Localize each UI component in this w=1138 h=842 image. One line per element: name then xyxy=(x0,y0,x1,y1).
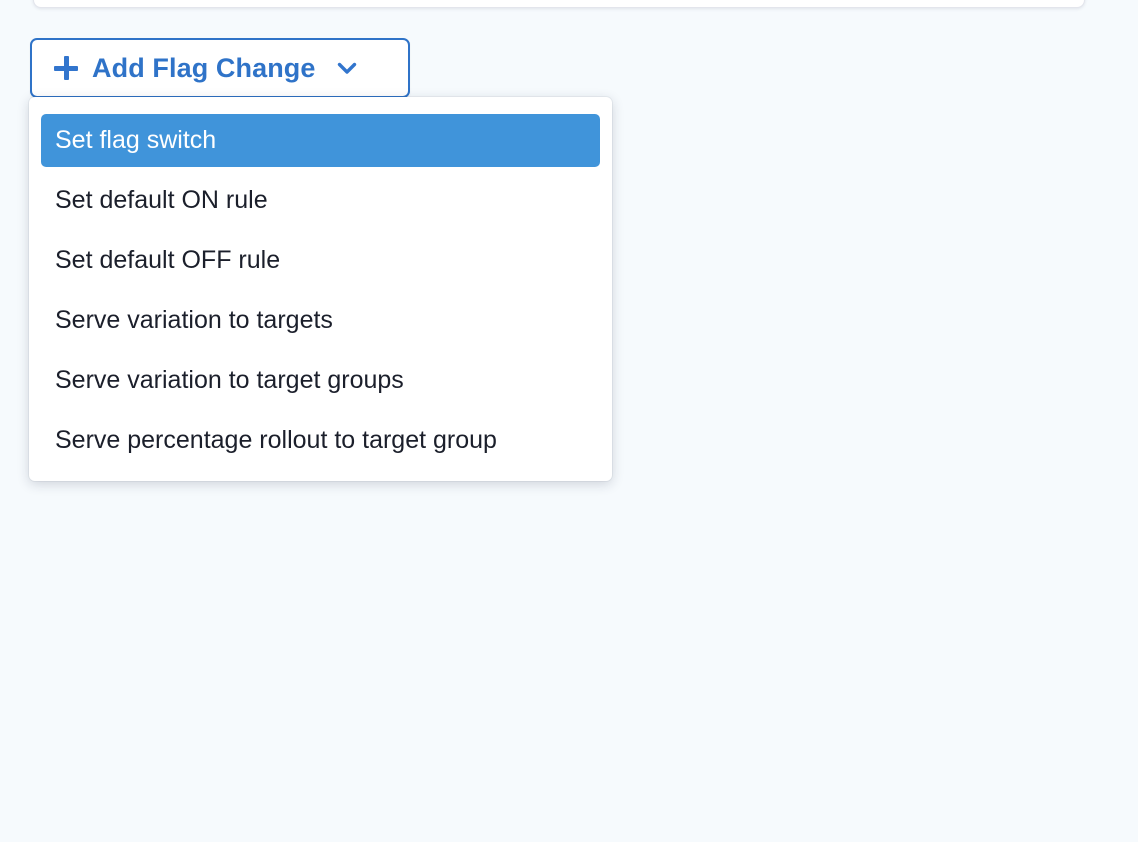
menu-item-label: Set flag switch xyxy=(55,128,216,153)
menu-item-label: Set default ON rule xyxy=(55,188,268,213)
add-flag-change-label: Add Flag Change xyxy=(92,55,316,82)
flag-change-menu: Set flag switch Set default ON rule Set … xyxy=(29,97,612,481)
menu-item-label: Serve variation to targets xyxy=(55,308,333,333)
add-flag-change-dropdown: Add Flag Change Set flag switch Set defa… xyxy=(0,0,1138,842)
chevron-down-icon xyxy=(334,55,360,81)
menu-item-label: Serve variation to target groups xyxy=(55,368,404,393)
menu-item-set-flag-switch[interactable]: Set flag switch xyxy=(41,114,600,167)
add-flag-change-button[interactable]: Add Flag Change xyxy=(30,38,410,98)
menu-item-set-default-on-rule[interactable]: Set default ON rule xyxy=(41,174,600,227)
menu-item-serve-variation-to-targets[interactable]: Serve variation to targets xyxy=(41,294,600,347)
menu-item-serve-variation-to-target-groups[interactable]: Serve variation to target groups xyxy=(41,354,600,407)
menu-item-label: Set default OFF rule xyxy=(55,248,280,273)
plus-icon xyxy=(54,56,78,80)
menu-item-label: Serve percentage rollout to target group xyxy=(55,428,497,453)
menu-item-set-default-off-rule[interactable]: Set default OFF rule xyxy=(41,234,600,287)
menu-item-serve-percentage-rollout-to-target-group[interactable]: Serve percentage rollout to target group xyxy=(41,414,600,467)
